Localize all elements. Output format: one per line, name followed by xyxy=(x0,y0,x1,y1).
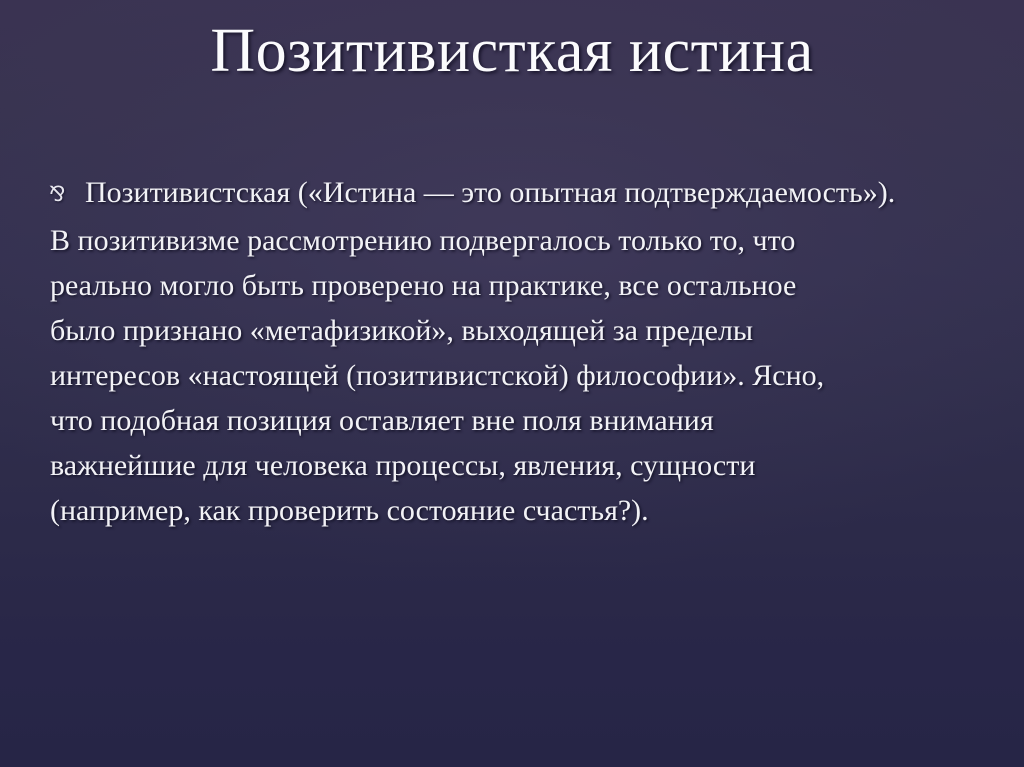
bullet-line: Позитивистская («Истина — это опытная xyxy=(85,176,617,209)
script-ampersand-bullet-icon: ⅋ xyxy=(49,173,85,215)
paragraph-line: что подобная позиция оставляет вне поля … xyxy=(50,398,949,443)
paragraph-line: (например, как проверить состояние счаст… xyxy=(50,488,949,533)
paragraph-line: важнейшие для человека процессы, явления… xyxy=(50,443,949,488)
paragraph-line: реально могло быть проверено на практике… xyxy=(50,263,949,308)
slide-body: ⅋ Позитивистская («Истина — это опытная … xyxy=(49,172,949,533)
paragraph-line: интересов «настоящей (позитивистской) фи… xyxy=(50,353,949,398)
bullet-line: подтверждаемость»). xyxy=(624,176,895,209)
slide-title-block: Позитивисткая истина xyxy=(60,18,964,85)
paragraph-line: В позитивизме рассмотрению подвергалось … xyxy=(50,218,949,263)
page-title: Позитивисткая истина xyxy=(60,18,964,85)
paragraph-line: было признано «метафизикой», выходящей з… xyxy=(50,308,949,353)
body-paragraph: В позитивизме рассмотрению подвергалось … xyxy=(50,218,949,533)
bullet-list-item: ⅋ Позитивистская («Истина — это опытная … xyxy=(49,172,949,214)
bullet-item-text: Позитивистская («Истина — это опытная по… xyxy=(85,172,949,214)
presentation-slide: Позитивисткая истина ⅋ Позитивистская («… xyxy=(0,0,1024,767)
